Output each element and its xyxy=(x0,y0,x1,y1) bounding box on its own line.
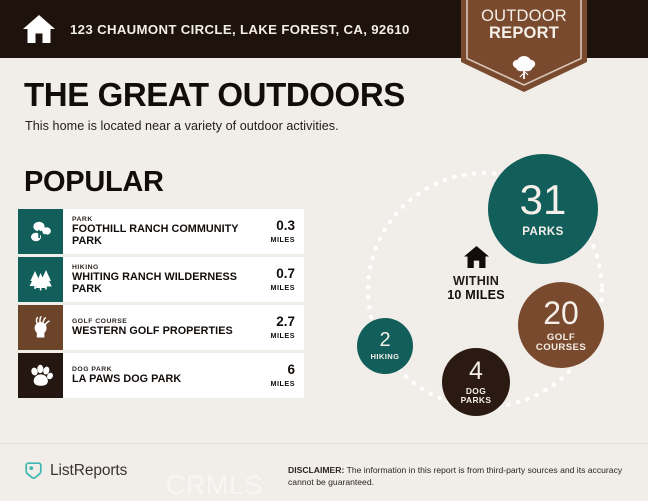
bubble-label: DOG PARKS xyxy=(461,387,492,405)
item-name: WESTERN GOLF PROPERTIES xyxy=(72,326,233,338)
paw-icon xyxy=(18,353,63,398)
item-category: GOLF COURSE xyxy=(72,318,233,325)
listreports-logo[interactable]: ListReports xyxy=(24,461,127,480)
item-name: WHITING RANCH WILDERNESS PARK xyxy=(72,272,248,295)
footer-divider xyxy=(0,443,648,444)
disclaimer-label: DISCLAIMER: xyxy=(288,465,344,475)
popular-list: PARK FOOTHILL RANCH COMMUNITY PARK 0.3 M… xyxy=(18,209,304,401)
bubble-value: 2 xyxy=(379,330,390,350)
bubble-value: 4 xyxy=(469,359,483,384)
center-line2: 10 MILES xyxy=(447,288,505,302)
property-address: 123 CHAUMONT CIRCLE, LAKE FOREST, CA, 92… xyxy=(70,22,410,37)
distance-unit: MILES xyxy=(271,235,295,244)
distance-unit: MILES xyxy=(271,331,295,340)
item-category: PARK xyxy=(72,216,248,223)
listreports-logo-icon xyxy=(24,461,43,480)
outdoor-report-infographic: 123 CHAUMONT CIRCLE, LAKE FOREST, CA, 92… xyxy=(0,0,648,501)
home-icon xyxy=(463,245,490,269)
outdoor-report-badge: OUTDOOR REPORT xyxy=(461,0,587,92)
diagram-center-label: WITHIN 10 MILES xyxy=(426,245,526,302)
list-item[interactable]: PARK FOOTHILL RANCH COMMUNITY PARK 0.3 M… xyxy=(18,209,304,254)
distance-unit: MILES xyxy=(271,283,295,292)
bubble-label-line2: COURSES xyxy=(536,342,586,353)
list-item[interactable]: HIKING WHITING RANCH WILDERNESS PARK 0.7… xyxy=(18,257,304,302)
count-bubble-dog-parks[interactable]: 4 DOG PARKS xyxy=(442,348,510,416)
disclaimer: DISCLAIMER: The information in this repo… xyxy=(288,464,628,488)
item-category: HIKING xyxy=(72,264,248,271)
count-bubble-golf-courses[interactable]: 20 GOLF COURSES xyxy=(518,282,604,368)
center-line1: WITHIN xyxy=(453,274,499,288)
page-subtitle: This home is located near a variety of o… xyxy=(25,119,339,133)
park-icon xyxy=(18,209,63,254)
popular-heading: POPULAR xyxy=(24,166,164,199)
bubble-value: 31 xyxy=(520,179,567,221)
distance-unit: MILES xyxy=(271,379,295,388)
bubble-label-line1: GOLF xyxy=(547,332,575,343)
distance-value: 6 xyxy=(287,363,295,377)
list-item[interactable]: DOG PARK LA PAWS DOG PARK 6 MILES xyxy=(18,353,304,398)
item-distance: 6 MILES xyxy=(252,353,304,398)
list-item[interactable]: GOLF COURSE WESTERN GOLF PROPERTIES 2.7 … xyxy=(18,305,304,350)
home-icon xyxy=(22,14,56,44)
bubble-label: GOLF COURSES xyxy=(536,333,586,354)
distance-value: 0.3 xyxy=(276,219,295,233)
bubble-label-line2: PARKS xyxy=(461,395,492,405)
nearby-counts-diagram: 31 PARKS 20 GOLF COURSES 4 DOG PARKS 2 H… xyxy=(330,140,648,440)
bubble-value: 20 xyxy=(543,297,579,329)
item-name: LA PAWS DOG PARK xyxy=(72,374,181,386)
trees-icon xyxy=(18,257,63,302)
listreports-logo-text: ListReports xyxy=(50,462,127,480)
item-distance: 2.7 MILES xyxy=(252,305,304,350)
bubble-label: HIKING xyxy=(371,353,400,361)
item-name: FOOTHILL RANCH COMMUNITY PARK xyxy=(72,224,248,247)
bubble-label: PARKS xyxy=(522,226,563,238)
item-category: DOG PARK xyxy=(72,366,181,373)
item-distance: 0.7 MILES xyxy=(252,257,304,302)
golf-icon xyxy=(18,305,63,350)
page-title: THE GREAT OUTDOORS xyxy=(24,76,405,114)
item-distance: 0.3 MILES xyxy=(252,209,304,254)
crmls-watermark: CRMLS xyxy=(166,470,263,501)
distance-value: 0.7 xyxy=(276,267,295,281)
count-bubble-hiking[interactable]: 2 HIKING xyxy=(357,318,413,374)
distance-value: 2.7 xyxy=(276,315,295,329)
